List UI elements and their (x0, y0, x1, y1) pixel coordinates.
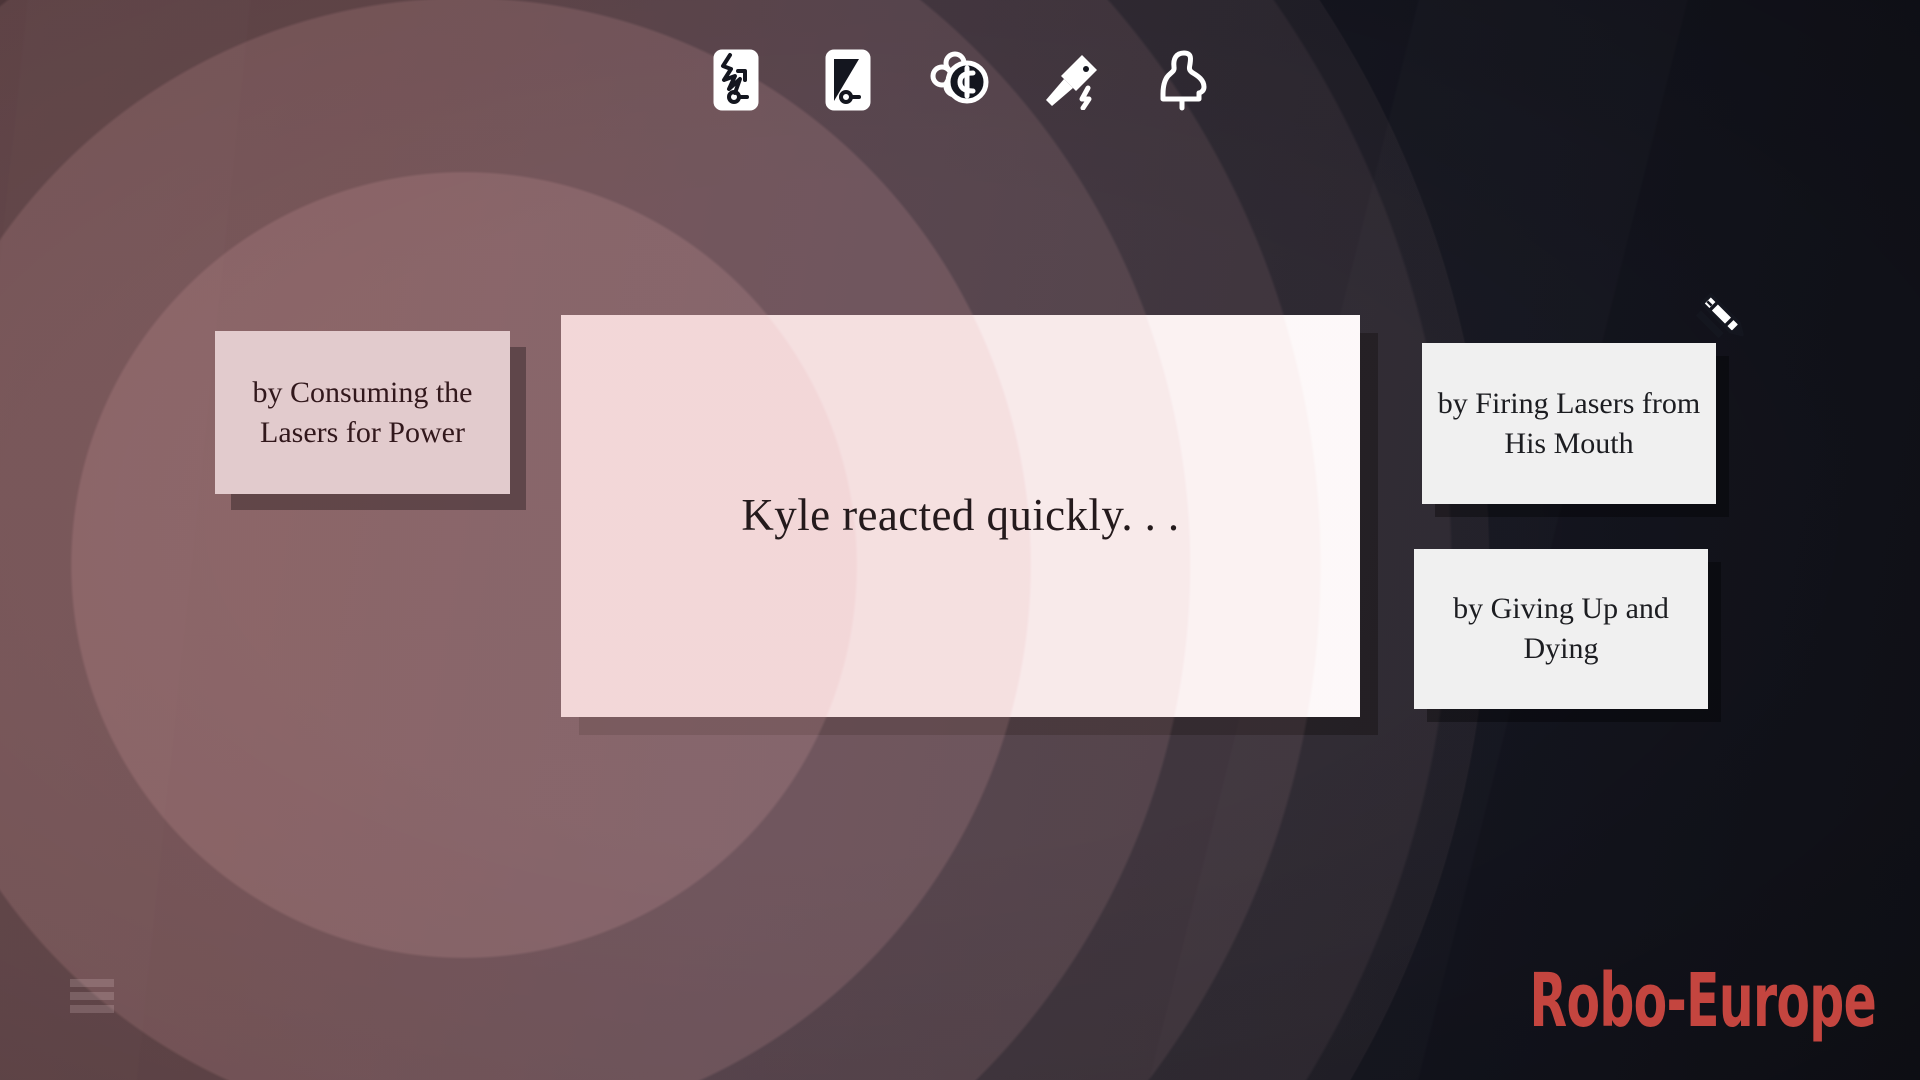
laser-bolt-icon[interactable] (1036, 44, 1108, 116)
menu-bar-1 (70, 979, 114, 987)
choice-card-firing-lasers[interactable]: by Firing Lasers from His Mouth (1422, 343, 1716, 504)
choice-card-giving-up[interactable]: by Giving Up and Dying (1414, 549, 1708, 709)
story-passage-text: Kyle reacted quickly. . . (741, 486, 1179, 545)
choice-label: by Giving Up and Dying (1428, 589, 1694, 668)
person-bust-icon[interactable] (1148, 44, 1220, 116)
cracked-phone-icon[interactable] (700, 44, 772, 116)
brand-wordmark: Robo-Europe (1529, 964, 1876, 1038)
app-stage: Kyle reacted quickly. . . by Consuming t… (0, 0, 1920, 1080)
choice-label: by Consuming the Lasers for Power (229, 373, 496, 452)
choice-card-consuming-lasers[interactable]: by Consuming the Lasers for Power (215, 331, 510, 494)
menu-bar-2 (70, 992, 114, 1000)
choice-label: by Firing Lasers from His Mouth (1436, 384, 1702, 463)
hamburger-menu-icon[interactable] (70, 979, 114, 1013)
status-icon-bar (0, 44, 1920, 116)
menu-bar-3 (70, 1005, 114, 1013)
phone-icon[interactable] (812, 44, 884, 116)
story-passage-card: Kyle reacted quickly. . . (561, 315, 1360, 717)
coins-cent-icon[interactable] (924, 44, 996, 116)
